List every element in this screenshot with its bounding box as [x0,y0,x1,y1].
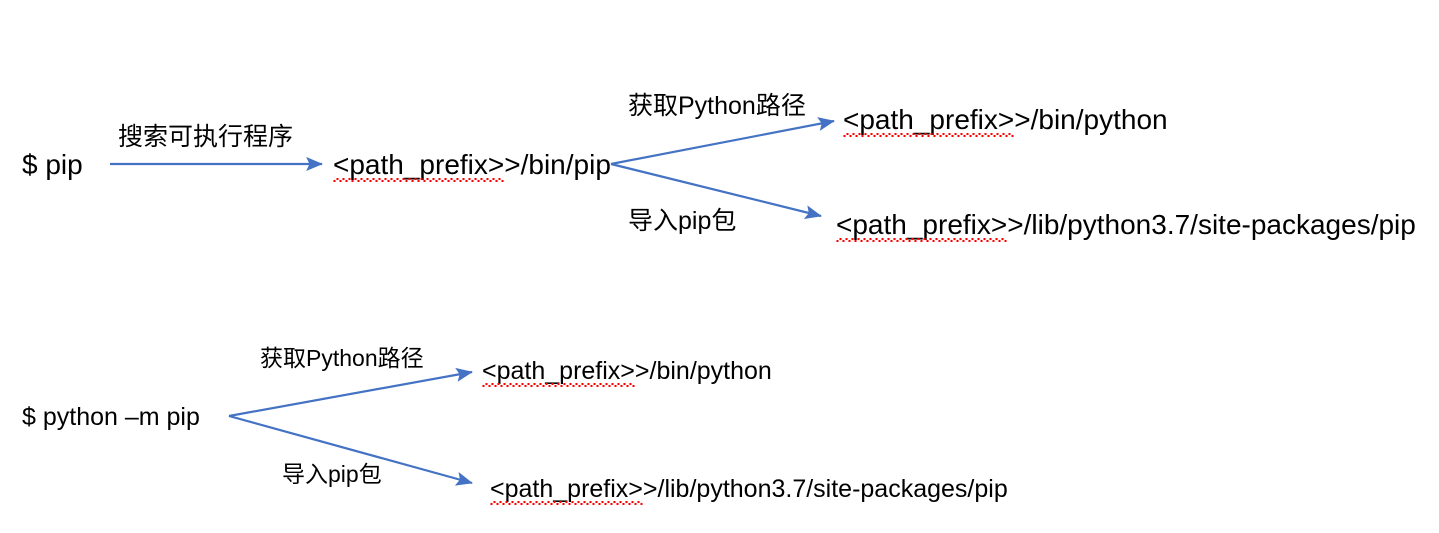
diagram-canvas: $ pip 搜索可执行程序 <path_prefix>>/bin/pip 获取P… [0,0,1439,533]
edge-label-search-executable: 搜索可执行程序 [118,123,293,152]
edge-label-get-python-path: 获取Python路径 [628,92,806,121]
node-source-python-m-pip: $ python –m pip [22,403,200,432]
node-path-site-packages-pip-2: <path_prefix>>/lib/python3.7/site-packag… [490,475,1008,504]
edge-label-get-python-path-2: 获取Python路径 [260,345,424,371]
node-path-bin-python-rest: >/bin/python [1014,104,1167,135]
node-path-bin-python-2: <path_prefix>>/bin/python [482,357,772,386]
node-path-bin-pip-rest: >/bin/pip [504,149,611,180]
edge-label-import-pip-package: 导入pip包 [628,207,736,236]
spellcheck-token: <path_prefix> [482,357,635,386]
arrow-get-python-path [611,121,834,164]
node-path-bin-python: <path_prefix>>/bin/python [843,104,1168,136]
spellcheck-token: <path_prefix> [333,149,504,181]
arrow-layer [0,0,1439,533]
arrow-get-python-path-2 [229,372,472,416]
edge-label-import-pip-package-2: 导入pip包 [282,461,382,487]
node-path-bin-pip: <path_prefix>>/bin/pip [333,149,611,181]
spellcheck-token: <path_prefix> [836,209,1007,241]
node-path-site-packages-pip: <path_prefix>>/lib/python3.7/site-packag… [836,209,1416,241]
spellcheck-token: <path_prefix> [490,475,643,504]
node-path-bin-python-2-rest: >/bin/python [635,357,772,385]
node-source-pip: $ pip [22,149,83,181]
node-path-site-packages-pip-rest: >/lib/python3.7/site-packages/pip [1007,209,1416,240]
spellcheck-token: <path_prefix> [843,104,1014,136]
node-path-site-packages-pip-2-rest: >/lib/python3.7/site-packages/pip [643,475,1008,503]
